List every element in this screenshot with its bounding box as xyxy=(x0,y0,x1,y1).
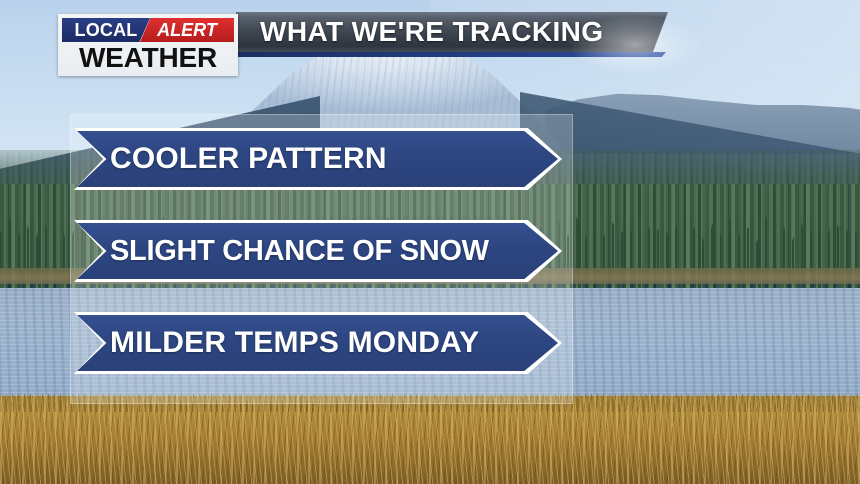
station-logo: LOCAL ALERT WEATHER xyxy=(58,14,238,76)
weather-graphic-stage: WHAT WE'RE TRACKING LOCAL ALERT WEATHER … xyxy=(0,0,860,484)
tracking-item-banner: MILDER TEMPS MONDAY xyxy=(74,312,562,374)
logo-weather-text: WEATHER xyxy=(62,43,234,73)
tracking-item-fill: MILDER TEMPS MONDAY xyxy=(77,315,559,371)
tracking-item-fill: COOLER PATTERN xyxy=(77,131,559,187)
logo-top-row: LOCAL ALERT xyxy=(62,18,234,42)
header-banner: WHAT WE'RE TRACKING xyxy=(236,12,668,52)
grass-blade-texture xyxy=(0,394,860,484)
logo-local-text: LOCAL xyxy=(62,18,150,42)
tracking-item-label: MILDER TEMPS MONDAY xyxy=(77,326,479,360)
logo-alert-text: ALERT xyxy=(140,18,234,42)
tracking-item-banner: SLIGHT CHANCE OF SNOW xyxy=(74,220,562,282)
tracking-item-fill: SLIGHT CHANCE OF SNOW xyxy=(77,223,559,279)
page-title: WHAT WE'RE TRACKING xyxy=(236,12,668,52)
tracking-item-banner: COOLER PATTERN xyxy=(74,128,562,190)
tracking-item-label: SLIGHT CHANCE OF SNOW xyxy=(77,235,489,268)
tracking-item-label: COOLER PATTERN xyxy=(77,142,387,176)
header-underline xyxy=(236,52,666,57)
